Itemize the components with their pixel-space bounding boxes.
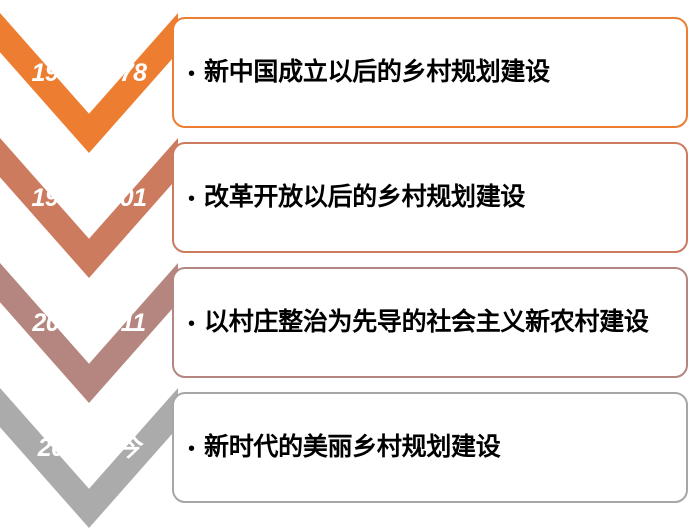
bullet-icon: • <box>188 439 195 459</box>
chevron-marker-3[interactable]: 2002-2011 <box>0 263 178 403</box>
chevron-shape-icon <box>0 138 178 278</box>
stage-description-4: 新时代的美丽乡村规划建设 <box>204 433 500 462</box>
chevron-marker-2[interactable]: 1979-2001 <box>0 138 178 278</box>
chevron-timeline-diagram: 1949-1978 • 新中国成立以后的乡村规划建设 1979-2001 • 改… <box>0 0 700 529</box>
chevron-shape-icon <box>0 388 178 528</box>
timeline-stage-3: 2002-2011 • 以村庄整治为先导的社会主义新农村建设 <box>0 263 700 405</box>
callout-content-2: • 改革开放以后的乡村规划建设 <box>174 183 531 212</box>
chevron-marker-1[interactable]: 1949-1978 <box>0 13 178 153</box>
timeline-stage-2: 1979-2001 • 改革开放以后的乡村规划建设 <box>0 138 700 280</box>
chevron-shape-icon <box>0 263 178 403</box>
stage-callout-box-4[interactable]: • 新时代的美丽乡村规划建设 <box>172 392 688 503</box>
stage-description-1: 新中国成立以后的乡村规划建设 <box>204 58 550 87</box>
bullet-icon: • <box>188 314 195 334</box>
chevron-shape-icon <box>0 13 178 153</box>
callout-content-3: • 以村庄整治为先导的社会主义新农村建设 <box>174 308 655 337</box>
timeline-stage-1: 1949-1978 • 新中国成立以后的乡村规划建设 <box>0 13 700 155</box>
timeline-stage-4: 2012至今 • 新时代的美丽乡村规划建设 <box>0 388 700 530</box>
bullet-icon: • <box>188 189 195 209</box>
stage-callout-box-3[interactable]: • 以村庄整治为先导的社会主义新农村建设 <box>172 267 688 378</box>
stage-description-2: 改革开放以后的乡村规划建设 <box>204 183 525 212</box>
stage-callout-box-1[interactable]: • 新中国成立以后的乡村规划建设 <box>172 17 688 128</box>
callout-content-4: • 新时代的美丽乡村规划建设 <box>174 433 506 462</box>
callout-content-1: • 新中国成立以后的乡村规划建设 <box>174 58 556 87</box>
stage-description-3: 以村庄整治为先导的社会主义新农村建设 <box>204 308 649 337</box>
chevron-marker-4[interactable]: 2012至今 <box>0 388 178 528</box>
stage-callout-box-2[interactable]: • 改革开放以后的乡村规划建设 <box>172 142 688 253</box>
bullet-icon: • <box>188 64 195 84</box>
